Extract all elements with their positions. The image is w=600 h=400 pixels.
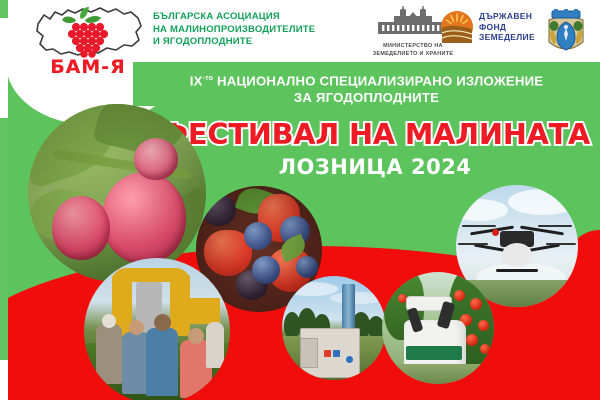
bam-ya-acronym: БAM-Я [28,56,148,78]
edition-number: IX [190,73,203,88]
greenhouse-floor [382,364,494,384]
drone-propeller [458,243,488,245]
drone-spray-tank [502,243,532,267]
photo-raspberry-closeup [28,104,206,282]
photo-harvest-robot [382,272,494,384]
tomato-shape [478,320,489,331]
cabinet-shelf [300,338,318,368]
bam-ya-logo: БAM-Я БAM-Я [28,2,148,82]
drone-propeller [538,225,572,227]
harvester-arch [112,268,190,282]
robot-collection-tray [406,346,462,360]
photo-harvester-demonstration [84,258,230,400]
drone-propeller [546,243,576,245]
cloud-shape [286,282,338,296]
fund-line-1: ДЪРЖАВЕН [479,11,535,22]
ministry-line-1: МИНИСТЕРСТВО НА [352,43,474,51]
association-line-2: НА МАЛИНОПРОИЗВОДИТЕЛИТЕ [153,24,343,37]
tomato-shape [480,344,490,354]
poster-header: БAM-Я БAM-Я БЪЛГАРСКА АСОЦИАЦИЯ НА МАЛИН… [0,0,600,63]
association-line-1: БЪЛГАРСКА АСОЦИАЦИЯ [153,11,343,24]
person-shape [206,322,224,368]
fund-line-3: ЗЕМЕДЕЛИЕ [479,32,535,43]
person-hat [102,314,116,328]
municipality-coat-of-arms-icon [543,8,589,58]
festival-poster: БAM-Я БAM-Я БЪЛГАРСКА АСОЦИАЦИЯ НА МАЛИН… [0,0,600,400]
person-head [129,320,144,335]
edition-suffix: -то [203,75,214,82]
person-head [188,328,204,344]
cloud-shape [508,189,578,215]
raspberry-cluster [28,2,148,64]
control-dial [346,356,353,363]
tomato-shape [466,334,478,346]
person-shape [146,328,178,396]
person-head [154,314,171,331]
cloud-shape [330,292,384,304]
harvester-side-unit [184,298,220,324]
ministry-name: МИНИСТЕРСТВО НА ЗЕМЕДЕЛИЕТО И ХРАНИТЕ [352,43,474,58]
association-name: БЪЛГАРСКА АСОЦИАЦИЯ НА МАЛИНОПРОИЗВОДИТЕ… [153,11,343,49]
association-line-3: И ЯГОДОПЛОДНИТЕ [153,36,343,49]
state-fund-name: ДЪРЖАВЕН ФОНД ЗЕМЕДЕЛИЕ [479,11,535,43]
drone-light [492,229,499,236]
state-fund-logo-block: ДЪРЖАВЕН ФОНД ЗЕМЕДЕЛИЕ [440,10,546,44]
background-bottom-left-white [0,360,8,400]
exhibition-title-line-1: IX-то НАЦИОНАЛНО СПЕЦИАЛИЗИРАНО ИЗЛОЖЕНИ… [133,70,600,89]
person-shape [96,324,122,384]
tomato-shape [470,298,482,310]
sunrise-field-icon [440,10,474,44]
exhibition-title-rest: НАЦИОНАЛНО СПЕЦИАЛИЗИРАНО ИЗЛОЖЕНИЕ [213,73,543,88]
drone-propeller [462,225,496,227]
warning-sticker [324,350,331,357]
drone-landing-gear [496,269,538,272]
tomato-shape [454,290,465,301]
festival-title: ФЕСТИВАЛ НА МАЛИНАТА [150,118,600,151]
ministry-line-2: ЗЕМЕДЕЛИЕТО И ХРАНИТЕ [352,51,474,59]
chimney-shape [342,284,355,334]
photo-vignette [28,104,206,282]
photo-processing-unit [282,276,386,380]
fund-line-2: ФОНД [479,22,535,33]
exhibition-title: IX-то НАЦИОНАЛНО СПЕЦИАЛИЗИРАНО ИЗЛОЖЕНИ… [133,70,600,106]
info-sticker [333,350,340,357]
city-year: ЛОЗНИЦА 2024 [150,155,600,179]
